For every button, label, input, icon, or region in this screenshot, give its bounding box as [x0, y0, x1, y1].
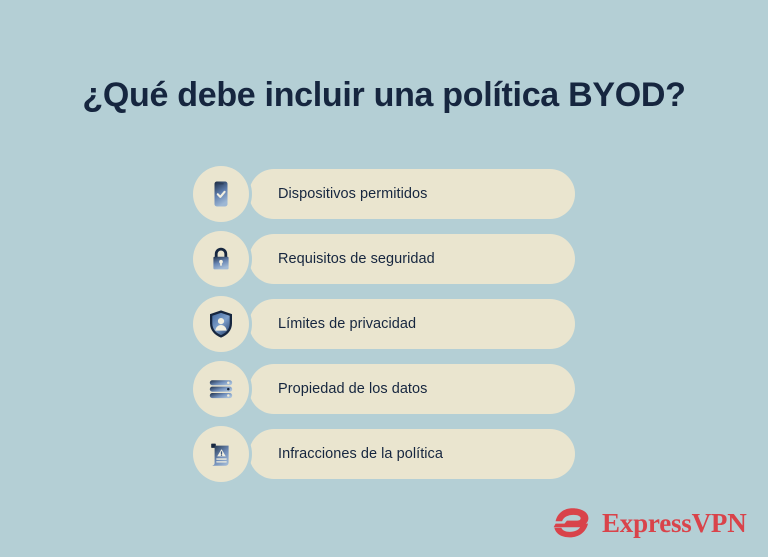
- list-item-pill: Límites de privacidad: [249, 299, 575, 349]
- smartphone-check-icon: [206, 179, 236, 209]
- list-item-pill: Propiedad de los datos: [249, 364, 575, 414]
- list-item-pill: Dispositivos permitidos: [249, 169, 575, 219]
- server-stack-icon: [206, 374, 236, 404]
- expressvpn-wordmark: ExpressVPN: [602, 510, 747, 537]
- byod-policy-list: Dispositivos permitidos: [193, 166, 575, 482]
- icon-badge: [193, 426, 249, 482]
- list-item: Propiedad de los datos: [193, 361, 575, 417]
- list-item-pill: Infracciones de la política: [249, 429, 575, 479]
- infographic-canvas: ¿Qué debe incluir una política BYOD?: [0, 0, 768, 557]
- icon-badge: [193, 166, 249, 222]
- list-item-pill: Requisitos de seguridad: [249, 234, 575, 284]
- shield-person-icon: [205, 308, 237, 340]
- list-item: Infracciones de la política: [193, 426, 575, 482]
- list-item-label: Límites de privacidad: [278, 316, 416, 332]
- list-item-label: Requisitos de seguridad: [278, 251, 435, 267]
- list-item: Límites de privacidad: [193, 296, 575, 352]
- document-warning-icon: [206, 439, 236, 469]
- list-item-label: Dispositivos permitidos: [278, 186, 427, 202]
- padlock-icon: [206, 244, 236, 274]
- icon-badge: [193, 231, 249, 287]
- expressvpn-logo: ExpressVPN: [553, 503, 747, 543]
- icon-badge: [193, 296, 249, 352]
- list-item-label: Infracciones de la política: [278, 446, 443, 462]
- icon-badge: [193, 361, 249, 417]
- list-item: Requisitos de seguridad: [193, 231, 575, 287]
- page-title: ¿Qué debe incluir una política BYOD?: [0, 75, 768, 116]
- expressvpn-e-mark-icon: [553, 506, 593, 540]
- list-item: Dispositivos permitidos: [193, 166, 575, 222]
- list-item-label: Propiedad de los datos: [278, 381, 427, 397]
